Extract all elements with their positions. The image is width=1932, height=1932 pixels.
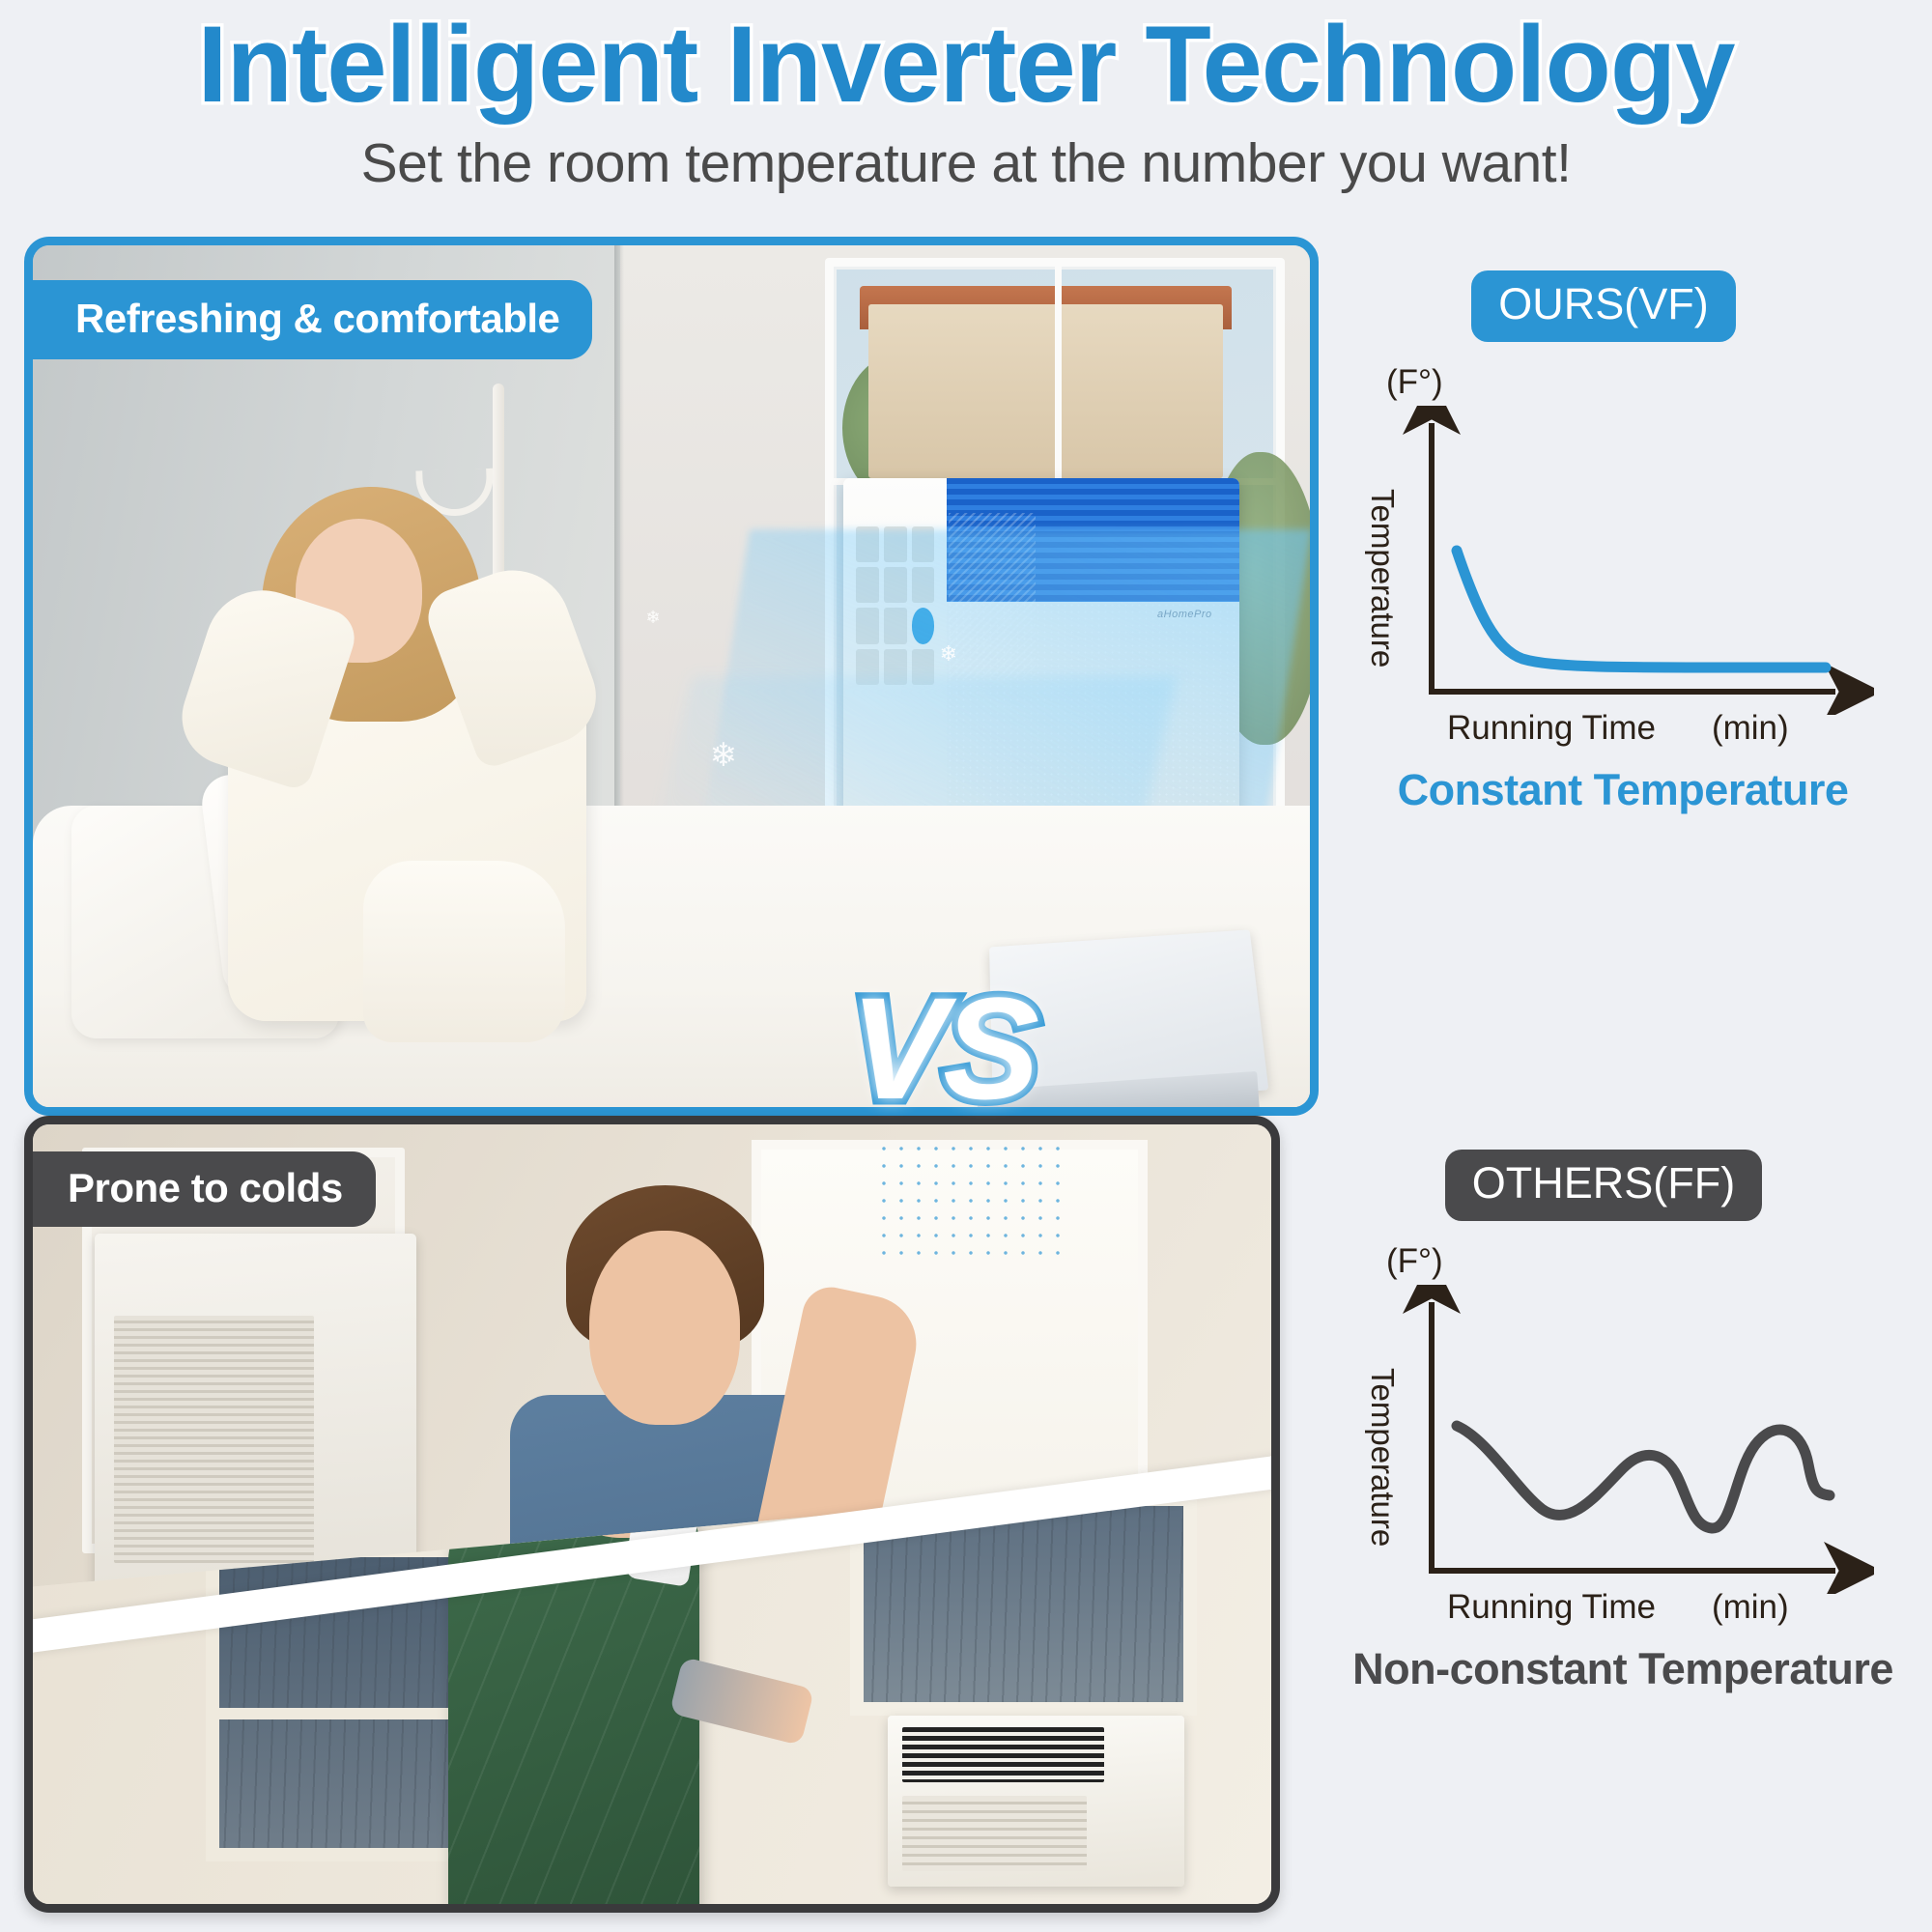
snowflake-icon: ❄ — [646, 608, 661, 628]
badge-refreshing-comfortable: Refreshing & comfortable — [33, 280, 592, 359]
y-axis-label-others: Temperature — [1364, 1368, 1401, 1547]
ac-vent-louvers — [949, 513, 1036, 678]
chart-caption-ours: Constant Temperature — [1333, 765, 1913, 815]
ac-button-grid — [856, 526, 934, 685]
infographic-root: Intelligent Inverter Technology Set the … — [0, 0, 1932, 1932]
old-window-ac-unit — [95, 1234, 416, 1607]
chart-title-ours-vf: OURS(VF) — [1471, 270, 1736, 342]
y-axis-unit-ours: (F°) — [1386, 363, 1932, 402]
chart-svg-others — [1333, 1285, 1874, 1594]
chart-plot-ours: Temperature — [1333, 406, 1874, 715]
old-ac-grille — [114, 1316, 314, 1563]
chart-svg-ours — [1333, 406, 1874, 715]
chart-others-ff: OTHERS(FF) (F°) Temperature Running Time… — [1333, 1150, 1932, 1694]
x-axis-label-others: Running Time — [1447, 1588, 1656, 1626]
chart-title-wrap: OTHERS(FF) — [1333, 1150, 1874, 1221]
scene-bedroom-cool: aHomePro ❄ ❄ ❄ ❄ ❄ — [33, 245, 1310, 1107]
chart-ours-vf: OURS(VF) (F°) Temperature Running T — [1333, 270, 1932, 815]
chart-caption-others: Non-constant Temperature — [1333, 1644, 1913, 1694]
y-axis-unit-others: (F°) — [1386, 1242, 1932, 1281]
person-legs — [363, 861, 565, 1042]
x-axis-label-wrap-ours: Running Time(min) — [1333, 709, 1874, 748]
badge-prone-to-colds: Prone to colds — [33, 1151, 376, 1227]
person-head — [589, 1231, 740, 1425]
chart-title-wrap: OURS(VF) — [1333, 270, 1874, 342]
building — [868, 304, 1222, 478]
vs-label: VS — [850, 976, 1036, 1121]
snowflake-icon: ❄ — [710, 736, 738, 775]
ac-power-button-icon — [912, 608, 935, 643]
cold-room-ac-unit — [888, 1716, 1185, 1888]
chart-plot-others: Temperature — [1333, 1285, 1874, 1594]
x-axis-unit-ours: (min) — [1712, 709, 1789, 747]
panel-prone-to-colds: Prone to colds — [24, 1116, 1280, 1913]
cold-ac-bottom-grille — [902, 1796, 1087, 1871]
x-axis-label-wrap-others: Running Time(min) — [1333, 1588, 1874, 1627]
water-splash-decoration — [875, 1140, 1073, 1264]
ac-brand-label: aHomePro — [1157, 609, 1212, 620]
person-relaxing — [186, 487, 608, 1021]
chart-title-others-ff: OTHERS(FF) — [1445, 1150, 1762, 1221]
header: Intelligent Inverter Technology Set the … — [0, 0, 1932, 195]
y-axis-label-ours: Temperature — [1364, 489, 1401, 668]
x-axis-unit-others: (min) — [1712, 1588, 1789, 1626]
page-subtitle: Set the room temperature at the number y… — [0, 131, 1932, 195]
x-axis-label-ours: Running Time — [1447, 709, 1656, 747]
panel-refreshing: aHomePro ❄ ❄ ❄ ❄ ❄ Refreshing & comf — [24, 237, 1319, 1116]
scene-uncomfortable — [33, 1124, 1271, 1904]
cold-ac-top-grille — [902, 1727, 1104, 1782]
page-title: Intelligent Inverter Technology — [0, 0, 1932, 122]
snowflake-icon: ❄ — [940, 641, 957, 667]
